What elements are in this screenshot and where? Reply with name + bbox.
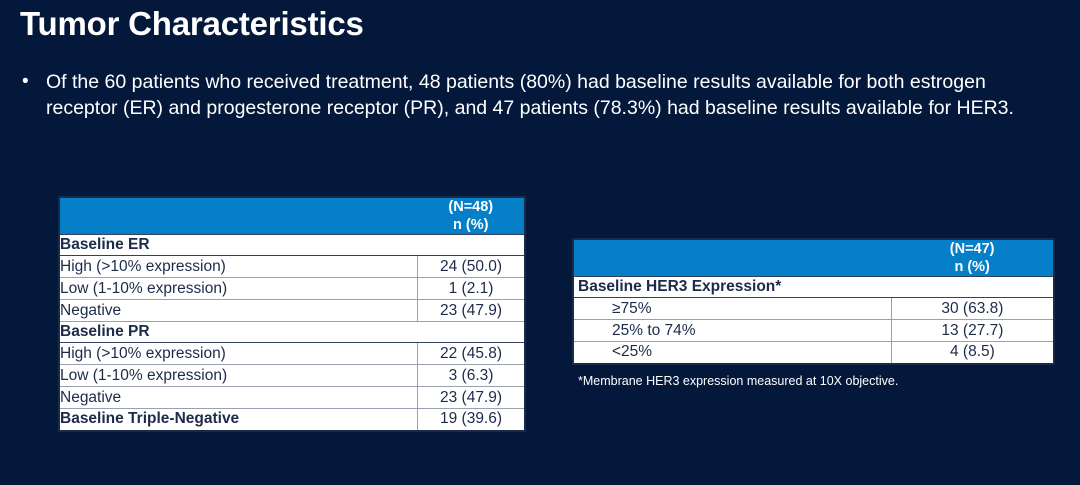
column-header-count-line1: (N=48) [418,198,524,216]
column-header-count: (N=48) n (%) [418,197,525,235]
table-row: High (>10% expression) 22 (45.8) [59,343,525,365]
row-label: ≥75% [573,298,891,320]
table-body: Baseline HER3 Expression* ≥75% 30 (63.8)… [573,277,1054,364]
column-header-count: (N=47) n (%) [891,239,1054,277]
table-row: Baseline Triple-Negative 19 (39.6) [59,409,525,431]
row-label: Negative [59,387,418,409]
row-value: 30 (63.8) [891,298,1054,320]
table-header: (N=48) n (%) [59,197,525,235]
row-label: Baseline Triple-Negative [59,409,418,431]
table-header: (N=47) n (%) [573,239,1054,277]
table-row: Low (1-10% expression) 3 (6.3) [59,365,525,387]
table-header-row: (N=47) n (%) [573,239,1054,277]
row-label: Low (1-10% expression) [59,278,418,300]
row-label: High (>10% expression) [59,256,418,278]
column-header-count-line2: n (%) [891,258,1053,276]
row-value: 4 (8.5) [891,342,1054,364]
table-footnote: *Membrane HER3 expression measured at 10… [578,373,898,389]
bullet-marker-icon: • [18,69,46,95]
column-header-count-line1: (N=47) [891,240,1053,258]
table-row: Negative 23 (47.9) [59,387,525,409]
row-label: Negative [59,300,418,322]
row-value: 23 (47.9) [418,387,525,409]
row-value: 24 (50.0) [418,256,525,278]
row-value: 22 (45.8) [418,343,525,365]
row-value: 1 (2.1) [418,278,525,300]
column-header-category [573,239,891,277]
table-row: Baseline PR [59,322,525,343]
row-label: Baseline HER3 Expression* [573,277,891,298]
row-value [891,277,1054,298]
row-value [418,235,525,256]
row-value: 19 (39.6) [418,409,525,431]
row-label: Baseline PR [59,322,418,343]
table-row: <25% 4 (8.5) [573,342,1054,364]
table-row: 25% to 74% 13 (27.7) [573,320,1054,342]
page-title: Tumor Characteristics [20,5,364,43]
column-header-category [59,197,418,235]
table-row: High (>10% expression) 24 (50.0) [59,256,525,278]
row-value: 23 (47.9) [418,300,525,322]
bullet-text: Of the 60 patients who received treatmen… [46,69,1028,121]
row-value [418,322,525,343]
column-header-count-line2: n (%) [418,216,524,234]
row-label: <25% [573,342,891,364]
table-row: ≥75% 30 (63.8) [573,298,1054,320]
row-value: 3 (6.3) [418,365,525,387]
row-value: 13 (27.7) [891,320,1054,342]
table-body: Baseline ER High (>10% expression) 24 (5… [59,235,525,431]
table-row: Low (1-10% expression) 1 (2.1) [59,278,525,300]
row-label: High (>10% expression) [59,343,418,365]
table-row: Baseline ER [59,235,525,256]
row-label: Baseline ER [59,235,418,256]
row-label: 25% to 74% [573,320,891,342]
table-row: Baseline HER3 Expression* [573,277,1054,298]
bullet-list: • Of the 60 patients who received treatm… [18,69,1028,121]
table-baseline-er-pr: (N=48) n (%) Baseline ER High (>10% expr… [58,196,526,432]
table-row: Negative 23 (47.9) [59,300,525,322]
row-label: Low (1-10% expression) [59,365,418,387]
table-header-row: (N=48) n (%) [59,197,525,235]
table-baseline-her3: (N=47) n (%) Baseline HER3 Expression* ≥… [572,238,1055,365]
